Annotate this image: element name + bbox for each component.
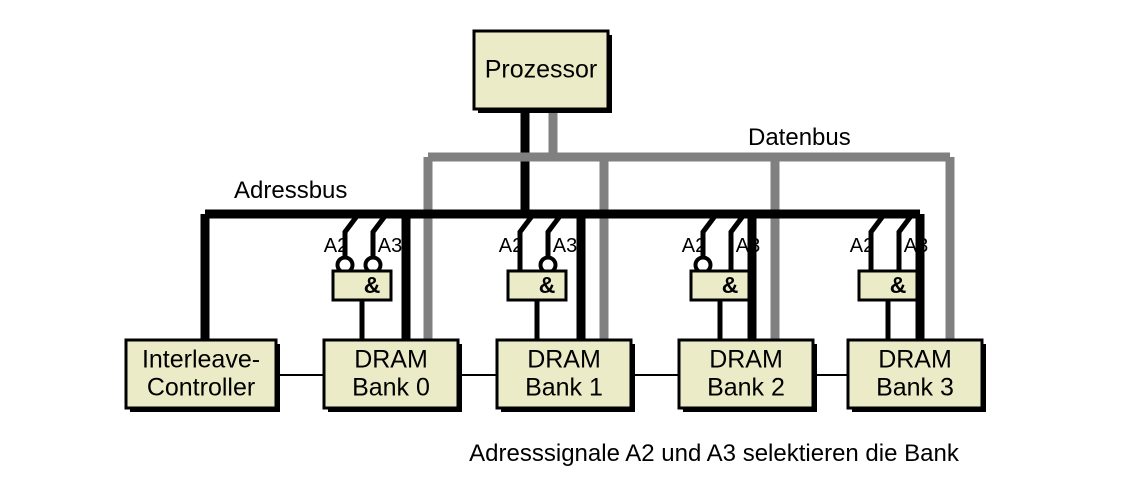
signal-label-a2-bank3: A2: [850, 235, 874, 257]
data-bus-label: Datenbus: [748, 124, 851, 151]
and-gate-box-bank3: [859, 271, 917, 300]
address-bus-label: Adressbus: [234, 177, 347, 204]
dram-bank-2-block[interactable]: DRAM Bank 2: [679, 340, 817, 412]
dram-bank-2-label-line1: DRAM: [709, 346, 783, 374]
signal-label-a2-bank1: A2: [499, 235, 523, 257]
dram-bank-1-label-line2: Bank 1: [525, 374, 603, 402]
signal-label-a3-bank0: A3: [378, 235, 402, 257]
decoder-bank-0: & A2 A3: [324, 216, 402, 340]
and-gate-box-bank1: [508, 271, 566, 300]
processor-block[interactable]: Prozessor: [474, 31, 612, 113]
diagram-caption: Adresssignale A2 und A3 selektieren die …: [469, 440, 960, 467]
decoder-bank-1: & A2 A3: [499, 216, 577, 340]
signal-label-a3-bank3: A3: [904, 235, 928, 257]
signal-label-a3-bank2: A3: [736, 235, 760, 257]
dram-bank-3-label-line2: Bank 3: [876, 374, 954, 402]
dram-bank-3-block[interactable]: DRAM Bank 3: [848, 340, 986, 412]
interleaving-diagram: & A2 A3 & A2 A3 & A2 A3 & A2 A3: [0, 0, 1146, 500]
and-gate-symbol-bank3: &: [890, 272, 907, 298]
signal-label-a2-bank0: A2: [324, 235, 348, 257]
diagram-canvas: & A2 A3 & A2 A3 & A2 A3 & A2 A3: [0, 0, 1146, 500]
interleave-controller-label-line2: Controller: [147, 374, 255, 402]
dram-bank-2-label-line2: Bank 2: [707, 374, 785, 402]
dram-bank-1-label-line1: DRAM: [527, 346, 601, 374]
dram-bank-0-label-line2: Bank 0: [352, 374, 430, 402]
interleave-controller-block[interactable]: Interleave- Controller: [126, 340, 280, 412]
signal-label-a3-bank1: A3: [553, 235, 577, 257]
and-gate-box-bank2: [691, 271, 749, 300]
signal-label-a2-bank2: A2: [682, 235, 706, 257]
dram-bank-0-label-line1: DRAM: [354, 346, 428, 374]
interleave-controller-label-line1: Interleave-: [142, 346, 260, 374]
dram-bank-1-block[interactable]: DRAM Bank 1: [497, 340, 635, 412]
dram-bank-0-block[interactable]: DRAM Bank 0: [324, 340, 462, 412]
and-gate-symbol-bank1: &: [539, 272, 556, 298]
dram-bank-3-label-line1: DRAM: [878, 346, 952, 374]
and-gate-symbol-bank0: &: [364, 272, 381, 298]
and-gate-symbol-bank2: &: [722, 272, 739, 298]
processor-label: Prozessor: [485, 56, 598, 84]
and-gate-box-bank0: [333, 271, 391, 300]
